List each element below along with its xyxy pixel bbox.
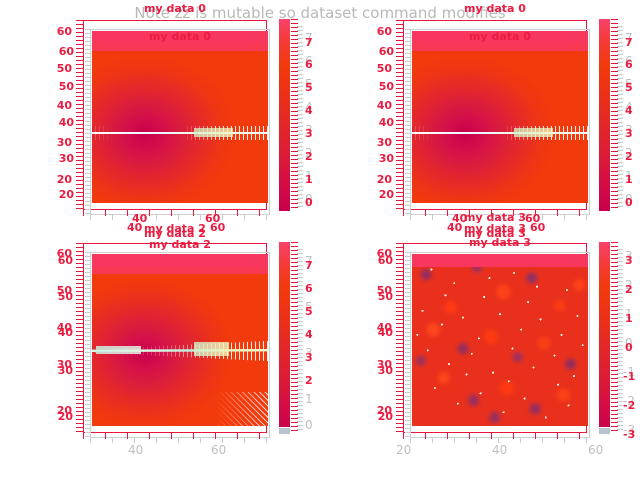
colorbar xyxy=(599,242,610,434)
colorbar-under-swatch xyxy=(279,428,290,434)
colorbar-tick-label-gray: 1 xyxy=(305,392,313,406)
y-tick-label-dup: 60 xyxy=(368,45,394,58)
panel-title-outer: my data 0 xyxy=(403,2,587,15)
y-minor-ticks-red xyxy=(396,20,403,210)
y-minor-ticks-gray xyxy=(85,29,90,215)
colorbar-tick-label-red: 0 xyxy=(625,341,633,354)
colorbar-tick-label-red: 1 xyxy=(305,173,313,186)
y-tick-label-dup: 30 xyxy=(367,364,393,377)
colorbar-tick-label-red: 0 xyxy=(305,196,313,209)
heatmap-top-band xyxy=(412,254,588,267)
contour-highlight-left xyxy=(96,346,142,354)
colorbar-gradient xyxy=(279,242,290,434)
colorbar-tick-label-red: 7 xyxy=(625,36,633,49)
panel-bottom-left: my data 2 my data 2 60 50 40 30 20 60 50… xyxy=(0,240,320,480)
colorbar-under-swatch xyxy=(599,428,610,434)
colorbar-tick-label-red: 7 xyxy=(305,36,313,49)
heatmap-noise-speckles xyxy=(412,254,588,426)
y-tick-label: 30 xyxy=(366,136,392,149)
colorbar-tick-label-red: 4 xyxy=(305,104,313,117)
y-tick-label: 40 xyxy=(366,99,392,112)
y-tick-label-dup: 40 xyxy=(47,326,73,339)
y-tick-label: 60 xyxy=(366,25,392,38)
y-tick-label-dup: 40 xyxy=(367,326,393,339)
y-tick-label-dup: 20 xyxy=(48,188,74,201)
colorbar-tick-label-red: 2 xyxy=(625,150,633,163)
heatmap-top-band-2 xyxy=(92,267,268,274)
colorbar-tick-label-red: 3 xyxy=(305,351,313,364)
colorbar-tick-label-red: 5 xyxy=(305,81,313,94)
colorbar-tick-label-red: 1 xyxy=(625,312,633,325)
colorbar-tick-label-red: 0 xyxy=(625,196,633,209)
y-minor-ticks-red xyxy=(396,243,403,433)
heatmap-top-band-2 xyxy=(412,44,588,51)
x-tick-label-gray: 20 xyxy=(396,443,411,457)
y-tick-label-dup: 20 xyxy=(47,410,73,423)
contour-highlight-right xyxy=(194,342,229,356)
contour-hatch-ticks xyxy=(92,126,268,140)
colorbar-tick-label-gray: 0 xyxy=(305,418,313,432)
y-tick-label-dup: 40 xyxy=(48,116,74,129)
y-tick-label: 20 xyxy=(366,173,392,186)
y-tick-label-dup: 60 xyxy=(47,254,73,267)
colorbar-tick-label-red: 3 xyxy=(625,254,633,267)
colorbar-gradient xyxy=(279,19,290,211)
y-minor-ticks-gray xyxy=(405,29,410,215)
contour-hatch-ticks xyxy=(412,126,588,140)
y-minor-ticks-red xyxy=(76,243,83,433)
y-tick-label-dup: 20 xyxy=(367,410,393,423)
panel-top-left: my data 0 my data 0 60 50 40 30 20 60 50… xyxy=(0,0,320,240)
colorbar-ticks-gray xyxy=(297,249,303,433)
y-tick-label-dup: 30 xyxy=(48,152,74,165)
y-tick-label-dup: 20 xyxy=(368,188,394,201)
heatmap-area xyxy=(92,31,268,203)
colorbar xyxy=(279,242,290,434)
contour-lower-hatch xyxy=(215,392,268,426)
panel-title-inner: my data 3 xyxy=(410,236,590,249)
contour-hatch-highlight xyxy=(514,128,553,137)
heatmap-image xyxy=(412,31,588,203)
y-minor-ticks-gray xyxy=(405,252,410,438)
y-minor-ticks-gray xyxy=(85,252,90,438)
heatmap-area xyxy=(412,254,588,426)
y-tick-label: 40 xyxy=(46,99,72,112)
y-tick-label-dup: 50 xyxy=(368,80,394,93)
y-tick-label-dup: 50 xyxy=(367,290,393,303)
colorbar-tick-label-red: 7 xyxy=(305,259,313,272)
panel-bottom-right: my data 3 my data 3 60 50 40 30 20 60 50… xyxy=(320,240,640,480)
heatmap-top-band xyxy=(92,254,268,267)
y-tick-label: 50 xyxy=(366,62,392,75)
y-tick-label-dup: 60 xyxy=(367,254,393,267)
y-minor-ticks-red xyxy=(76,20,83,210)
y-tick-label-dup: 50 xyxy=(47,290,73,303)
colorbar-tick-label-red: -1 xyxy=(623,370,635,383)
y-tick-label-dup: 40 xyxy=(368,116,394,129)
colorbar-tick-label-red: 2 xyxy=(305,150,313,163)
panel-title-inner: my data 0 xyxy=(410,30,590,43)
heatmap-image xyxy=(92,31,268,203)
panel-top-right: my data 0 my data 0 60 50 40 30 20 60 50… xyxy=(320,0,640,240)
colorbar-tick-label-red: 1 xyxy=(625,173,633,186)
heatmap-top-band-2 xyxy=(92,44,268,51)
y-tick-label: 50 xyxy=(46,62,72,75)
y-tick-label-dup: 30 xyxy=(47,364,73,377)
x-tick-label-gray: 60 xyxy=(211,443,226,457)
y-tick-label-dup: 60 xyxy=(48,45,74,58)
colorbar-tick-label-red: 2 xyxy=(625,283,633,296)
colorbar-tick-label-red: 5 xyxy=(625,81,633,94)
heatmap-area xyxy=(412,31,588,203)
colorbar-tick-label-red: -3 xyxy=(623,428,635,441)
x-tick-label-gray: 60 xyxy=(588,443,603,457)
colorbar-tick-label-red: 4 xyxy=(625,104,633,117)
x-minor-ticks-gray xyxy=(90,438,270,443)
heatmap-area xyxy=(92,254,268,426)
colorbar-gradient xyxy=(599,19,610,211)
y-tick-label: 60 xyxy=(46,25,72,38)
x-tick-label-gray: 40 xyxy=(128,443,143,457)
colorbar-tick-label-red: 4 xyxy=(305,328,313,341)
colorbar-tick-label-red: 6 xyxy=(625,58,633,71)
colorbar xyxy=(599,19,610,211)
colorbar-tick-label-red: 6 xyxy=(305,282,313,295)
y-tick-label-dup: 50 xyxy=(48,80,74,93)
colorbar xyxy=(279,19,290,211)
y-tick-label: 30 xyxy=(46,136,72,149)
colorbar-tick-label-red: 2 xyxy=(305,374,313,387)
colorbar-ticks-gray xyxy=(297,26,303,208)
panel-title-inner: my data 2 xyxy=(90,238,270,251)
x-minor-ticks-gray xyxy=(90,215,270,220)
panel-title-outer: my data 0 xyxy=(83,2,267,15)
figure-canvas: Note zz is mutable so dataset command mo… xyxy=(0,0,640,480)
colorbar-tick-label-red: 5 xyxy=(305,305,313,318)
colorbar-tick-label-red: 3 xyxy=(625,127,633,140)
y-tick-label-dup: 30 xyxy=(368,152,394,165)
panel-title-inner: my data 0 xyxy=(90,30,270,43)
contour-hatch-highlight xyxy=(194,128,233,137)
x-tick-label-gray: 40 xyxy=(492,443,507,457)
colorbar-tick-label-red: -2 xyxy=(623,399,635,412)
colorbar-gradient xyxy=(599,242,610,434)
colorbar-tick-label-red: 6 xyxy=(305,58,313,71)
y-tick-label: 20 xyxy=(46,173,72,186)
colorbar-tick-label-red: 3 xyxy=(305,127,313,140)
colorbar-ticks-gray xyxy=(617,26,623,208)
